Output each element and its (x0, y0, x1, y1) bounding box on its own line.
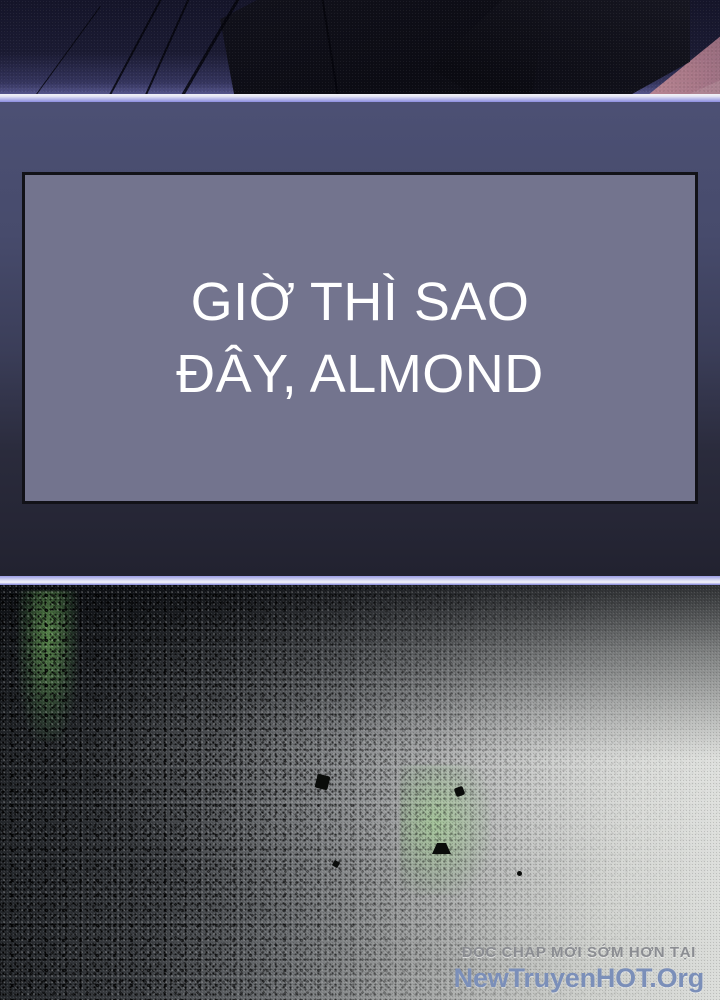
debris-fragment (432, 832, 451, 854)
speech-line-2: ĐÂY, ALMOND (176, 338, 544, 410)
comic-page: GIỜ THÌ SAO ĐÂY, ALMOND ĐỌC CHAP MỚI SỚM… (0, 0, 720, 1000)
panel-divider-top (0, 94, 720, 102)
fine-grain-overlay (0, 585, 720, 1000)
panel-divider-bottom (0, 576, 720, 585)
bottom-art-panel (0, 585, 720, 1000)
top-art-panel (0, 0, 720, 96)
watermark-url[interactable]: NewTruyenHOT.Org (454, 964, 704, 994)
watermark-tagline: ĐỌC CHAP MỚI SỚM HƠN TẠI (454, 945, 704, 962)
speech-line-1: GIỜ THÌ SAO (191, 266, 530, 338)
site-watermark: ĐỌC CHAP MỚI SỚM HƠN TẠI NewTruyenHOT.Or… (454, 945, 704, 994)
speech-box: GIỜ THÌ SAO ĐÂY, ALMOND (22, 172, 698, 504)
film-grain-overlay (0, 0, 720, 96)
debris-fragment (517, 871, 522, 876)
dialogue-panel: GIỜ THÌ SAO ĐÂY, ALMOND (0, 102, 720, 576)
